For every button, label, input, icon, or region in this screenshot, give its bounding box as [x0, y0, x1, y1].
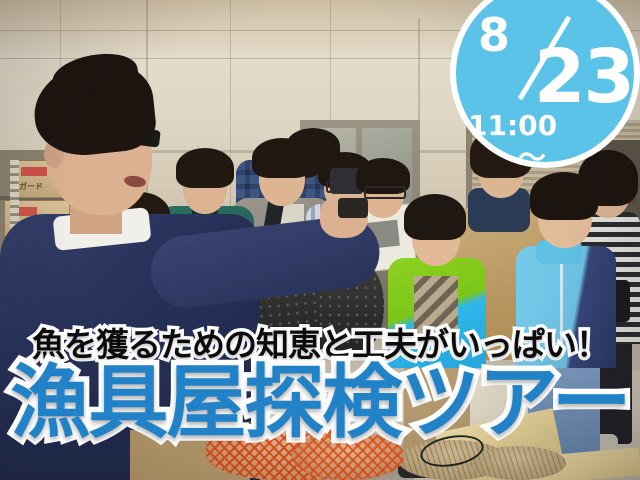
- badge-month: 8: [478, 12, 509, 58]
- boy-green-hair: [404, 194, 466, 240]
- person-green-jacket-hair: [176, 148, 234, 188]
- badge-day: 23: [534, 40, 633, 114]
- held-object: [338, 198, 368, 218]
- boy-blue-hair: [530, 172, 598, 220]
- badge-time-start: 11:00: [468, 112, 557, 140]
- eyeglasses: [364, 186, 406, 199]
- woven-basket-trap: [470, 446, 566, 480]
- main-title: 漁具屋探検ツアー: [0, 362, 640, 444]
- poster-root: ガード ガード: [0, 0, 640, 480]
- person-grey-jacket-hair: [252, 138, 312, 178]
